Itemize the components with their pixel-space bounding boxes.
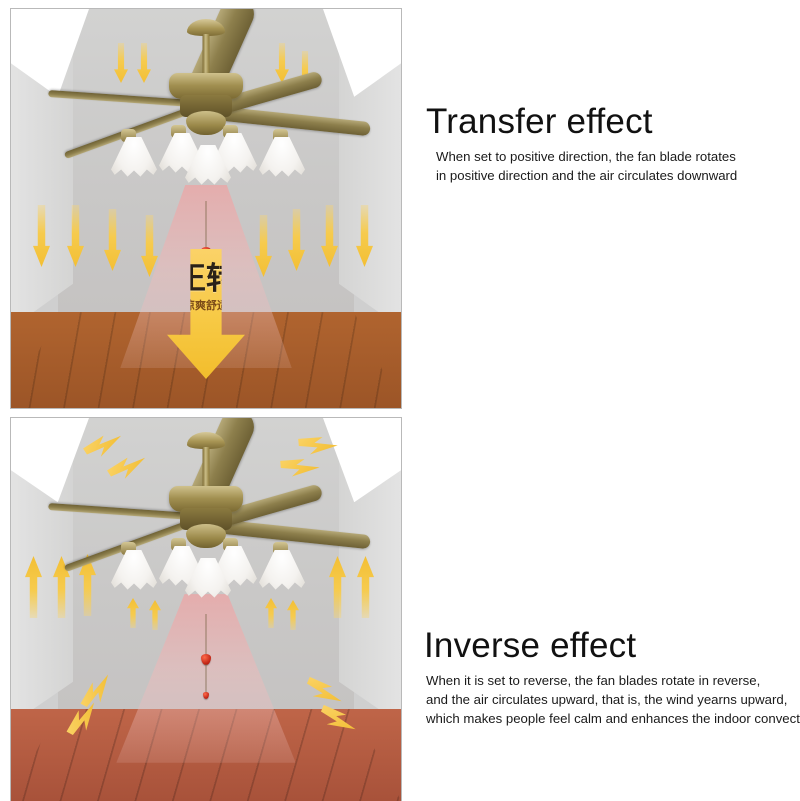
inverse-effect-block: Inverse effect When it is set to reverse… <box>418 628 794 728</box>
fan-downrod <box>203 447 210 489</box>
transfer-effect-line-1: When set to positive direction, the fan … <box>436 147 794 166</box>
light-shade-group <box>111 536 301 606</box>
light-shade <box>259 550 305 594</box>
light-shade <box>111 137 157 181</box>
illustration-panel-forward: 正转 凉爽舒适 <box>10 8 402 409</box>
light-shade <box>111 550 157 594</box>
illustration-panel-reverse: 空气调节 反转 <box>10 417 402 801</box>
pull-chain <box>206 664 207 694</box>
transfer-effect-block: Transfer effect When set to positive dir… <box>418 104 794 185</box>
transfer-effect-description: When set to positive direction, the fan … <box>418 147 794 185</box>
light-shade-group <box>111 123 301 193</box>
transfer-effect-line-2: in positive direction and the air circul… <box>436 166 794 185</box>
inverse-effect-description: When it is set to reverse, the fan blade… <box>418 671 794 728</box>
transfer-effect-heading: Transfer effect <box>418 104 794 141</box>
product-infographic: 正转 凉爽舒适 <box>0 0 800 800</box>
inverse-effect-heading: Inverse effect <box>418 628 794 665</box>
inverse-effect-line-3: which makes people feel calm and enhance… <box>426 709 794 728</box>
fan-downrod <box>203 34 210 76</box>
light-shade <box>259 137 305 181</box>
room-scene-forward: 正转 凉爽舒适 <box>11 9 401 408</box>
pull-chain <box>206 614 207 656</box>
pull-chain <box>206 201 207 249</box>
room-scene-reverse: 空气调节 反转 <box>11 418 401 801</box>
forward-rotation-sublabel: 凉爽舒适 <box>184 297 228 313</box>
description-column: Transfer effect When set to positive dir… <box>406 0 800 800</box>
inverse-effect-line-2: and the air circulates upward, that is, … <box>426 690 794 709</box>
inverse-effect-line-1: When it is set to reverse, the fan blade… <box>426 671 794 690</box>
